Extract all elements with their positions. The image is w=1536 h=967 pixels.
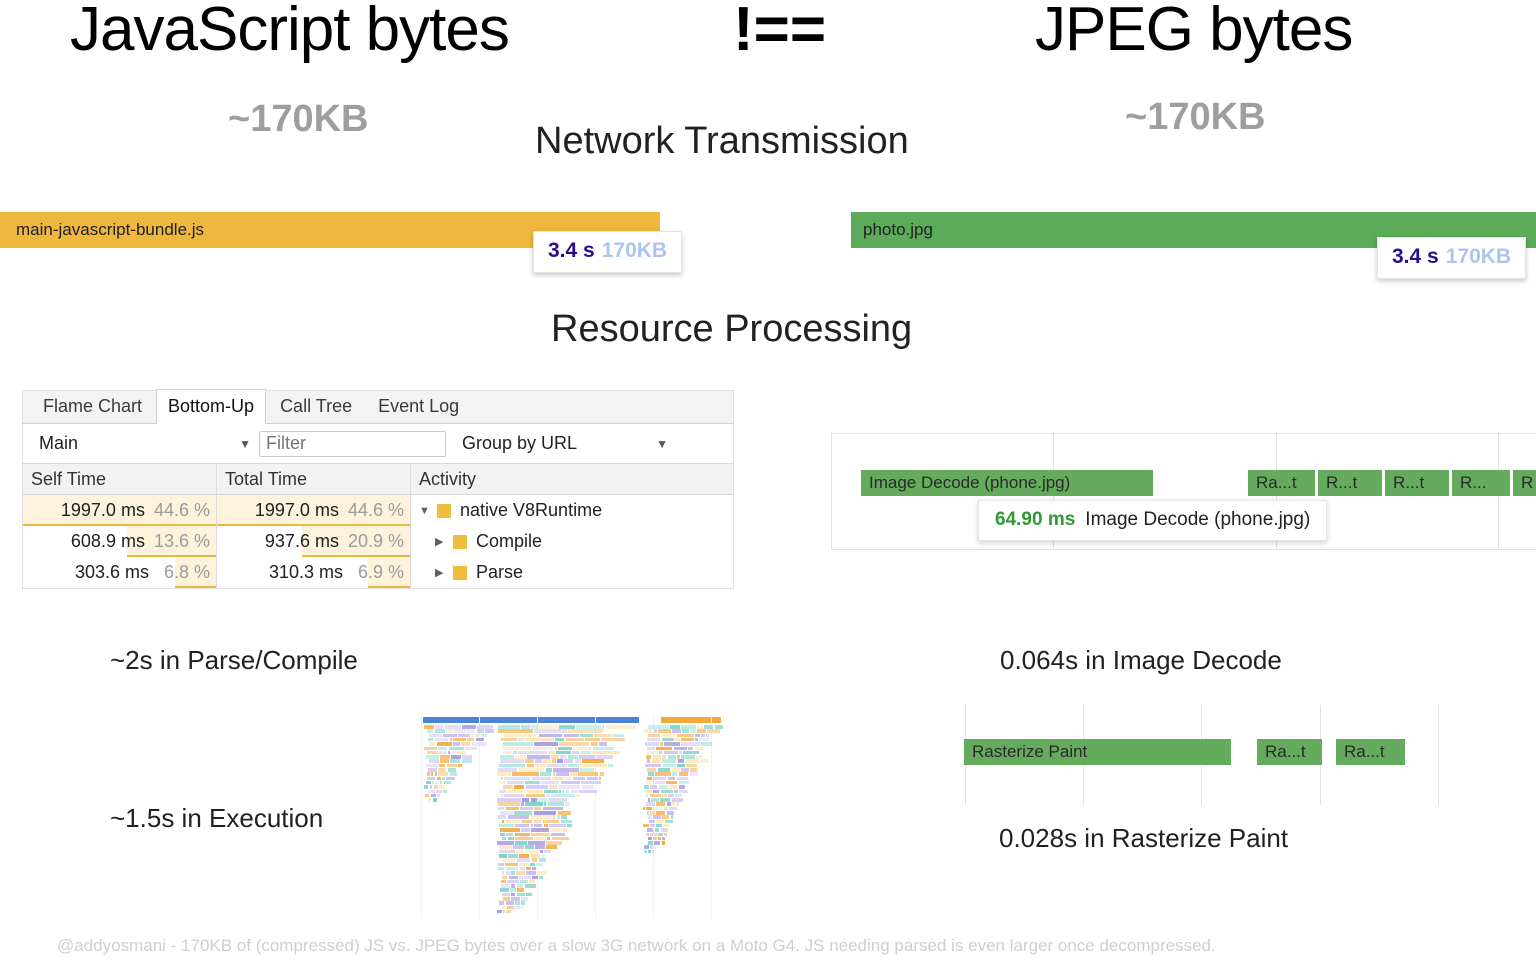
thumbnail-block <box>655 772 671 776</box>
thumbnail-block <box>527 764 534 768</box>
column-header-total-time[interactable]: Total Time <box>217 464 411 495</box>
thumbnail-block <box>704 725 713 729</box>
thumbnail-block <box>520 867 526 871</box>
chevron-right-icon[interactable]: ▶ <box>435 535 449 548</box>
thumbnail-block <box>559 725 575 729</box>
thumbnail-block <box>428 768 437 772</box>
thumbnail-block <box>450 759 460 763</box>
grid-rule <box>831 433 1536 434</box>
thumbnail-block <box>576 725 601 729</box>
thumbnail-block <box>570 772 577 776</box>
thumbnail-block <box>438 747 447 751</box>
thumbnail-block <box>520 807 533 811</box>
thumbnail-block <box>440 755 450 759</box>
thumbnail-block <box>695 747 704 751</box>
thumbnail-block <box>515 841 527 845</box>
filter-input[interactable] <box>259 431 446 457</box>
thumbnail-block <box>504 794 524 798</box>
thumbnail-block <box>521 828 529 832</box>
thumbnail-block <box>430 785 433 789</box>
thumbnail-block <box>432 781 435 785</box>
network-tooltip-javascript-time: 3.4 s <box>548 239 595 262</box>
thumbnail-block <box>644 729 653 733</box>
thumbnail-block <box>672 798 683 802</box>
thumbnail-block <box>517 884 524 888</box>
thumbnail-block <box>506 871 510 875</box>
thumbnail-block <box>499 901 505 905</box>
flame-block[interactable]: R <box>1513 470 1536 496</box>
thumbnail-block <box>552 777 563 781</box>
thumbnail-block <box>435 772 437 776</box>
thumbnail-block <box>450 772 458 776</box>
thumbnail-block <box>502 876 508 880</box>
thumbnail-block <box>553 768 579 772</box>
thumbnail-block <box>501 884 510 888</box>
total-time-value: 1997.0 ms <box>255 500 339 521</box>
thumbnail-block <box>659 751 662 755</box>
thumbnail-block <box>606 725 637 729</box>
thumbnail-block <box>662 837 665 841</box>
thumbnail-block <box>540 772 551 776</box>
category-swatch-icon <box>453 566 467 580</box>
thumbnail-block <box>439 764 445 768</box>
thumbnail-block <box>539 876 543 880</box>
thumbnail-block <box>450 738 452 742</box>
rasterize-paint-flame-strip: Rasterize PaintRa...tRa...t <box>951 705 1536 805</box>
thumbnail-block <box>516 871 525 875</box>
self-time-percent: 13.6 % <box>154 531 210 552</box>
thumbnail-block <box>500 811 513 815</box>
thumbnail-block <box>520 880 528 884</box>
flame-block[interactable]: Image Decode (phone.jpg) <box>861 470 1153 496</box>
devtools-table-header: Self Time Total Time Activity <box>22 464 734 495</box>
thumbnail-block <box>679 790 688 794</box>
thumbnail-block <box>531 725 538 729</box>
thumbnail-block <box>647 738 661 742</box>
thumbnail-block <box>485 729 494 733</box>
activity-cell: ▶Parse <box>411 557 733 588</box>
thumbnail-block <box>664 751 678 755</box>
thumbnail-block <box>507 880 519 884</box>
thumbnail-block <box>690 772 699 776</box>
thumbnail-block <box>429 759 439 763</box>
thumbnail-block <box>525 802 543 806</box>
thumbnail-block <box>661 717 721 723</box>
thumbnail-block <box>525 845 534 849</box>
thumbnail-block <box>435 725 443 729</box>
thumbnail-block <box>535 845 545 849</box>
thumbnail-block <box>546 820 559 824</box>
thumbnail-block <box>506 820 511 824</box>
thumbnail-block <box>518 768 545 772</box>
note-execution: ~1.5s in Execution <box>110 803 323 834</box>
footer-caption: @addyosmani - 170KB of (compressed) JS v… <box>57 936 1216 956</box>
thumbnail-block <box>519 876 522 880</box>
thumbnail-block <box>444 751 447 755</box>
thumbnail-block <box>424 785 429 789</box>
total-time-value: 937.6 ms <box>265 531 339 552</box>
thumbnail-block <box>661 790 673 794</box>
thumbnail-block <box>498 729 533 733</box>
thumbnail-block <box>663 824 670 828</box>
thumbnail-block <box>656 802 665 806</box>
headline-right-term: JPEG bytes <box>1035 0 1352 65</box>
thumbnail-block <box>423 717 639 723</box>
thumbnail-block <box>647 811 649 815</box>
self-time-value: 1997.0 ms <box>61 500 145 521</box>
thumbnail-block <box>429 734 442 738</box>
thumbnail-block <box>437 742 453 746</box>
thumbnail-block <box>697 729 706 733</box>
thumbnail-block <box>553 772 556 776</box>
thumbnail-block <box>650 811 655 815</box>
thumbnail-block <box>551 755 559 759</box>
thumbnail-block <box>508 854 517 858</box>
thumbnail-block <box>461 742 470 746</box>
thumbnail-block <box>515 837 533 841</box>
thumbnail-block <box>668 777 676 781</box>
thumbnail-block <box>498 807 504 811</box>
network-tooltip-jpeg-time: 3.4 s <box>1392 245 1439 268</box>
thumbnail-block <box>647 759 651 763</box>
thumbnail-block <box>498 768 517 772</box>
thumbnail-block <box>508 837 514 841</box>
thumbnail-block <box>548 751 555 755</box>
thumbnail-block <box>526 871 535 875</box>
total-time-percent: 20.9 % <box>348 531 404 552</box>
self-time-cell: 1997.0 ms44.6 % <box>23 495 217 526</box>
thumbnail-block <box>499 850 515 854</box>
thumbnail-block <box>504 777 530 781</box>
total-time-percent: 44.6 % <box>348 500 404 521</box>
thumbnail-block <box>510 888 516 892</box>
thumbnail-block <box>587 777 598 781</box>
flame-block[interactable]: Ra...t <box>1248 470 1315 496</box>
thumbnail-block <box>579 790 597 794</box>
thumbnail-block <box>654 845 657 849</box>
thumbnail-block <box>662 759 677 763</box>
activity-cell: ▼native V8Runtime <box>411 495 733 526</box>
thumbnail-block <box>677 734 694 738</box>
thumbnail-block <box>661 734 676 738</box>
thumbnail-block <box>559 742 589 746</box>
thumbnail-block <box>433 798 437 802</box>
note-rasterize-paint: 0.028s in Rasterize Paint <box>999 823 1288 854</box>
thumbnail-block <box>503 785 513 789</box>
thumbnail-block <box>647 747 655 751</box>
thumbnail-block <box>502 837 507 841</box>
devtools-toolbar: Main ▼ Group by URL ▼ <box>22 424 734 464</box>
flame-block[interactable]: R... <box>1452 470 1510 496</box>
thumbnail-block <box>645 742 659 746</box>
thumbnail-block <box>521 901 525 905</box>
thumbnail-block <box>650 824 655 828</box>
thumbnail-block <box>646 781 654 785</box>
tab-call-tree[interactable]: Call Tree <box>268 389 364 423</box>
thumbnail-block <box>424 725 434 729</box>
headline-operator: !== <box>733 0 826 65</box>
thumbnail-block <box>426 755 440 759</box>
thumbnail-block <box>582 759 604 763</box>
thumbnail-block <box>451 755 461 759</box>
thumbnail-block <box>541 781 559 785</box>
thumbnail-block <box>653 755 661 759</box>
thumbnail-block <box>535 764 546 768</box>
thumbnail-block <box>525 759 534 763</box>
thumbnail-block <box>440 759 449 763</box>
thumbnail-block <box>465 747 477 751</box>
thumbnail-block <box>505 863 518 867</box>
thumbnail-block <box>546 841 562 845</box>
thumbnail-block <box>526 893 532 897</box>
thumbnail-block <box>681 738 694 742</box>
thumbnail-block <box>536 863 543 867</box>
activity-cell: ▶Compile <box>411 526 733 557</box>
thumbnail-gridline <box>711 716 712 919</box>
thumbnail-block <box>699 738 709 742</box>
thumbnail-block <box>568 729 603 733</box>
self-time-cell: 303.6 ms6.8 % <box>23 557 217 588</box>
thumbnail-block <box>652 759 661 763</box>
thumbnail-block <box>524 876 531 880</box>
self-time-value: 608.9 ms <box>71 531 145 552</box>
thumbnail-block <box>499 781 507 785</box>
thumbnail-block <box>453 742 460 746</box>
activity-label: native V8Runtime <box>460 500 602 521</box>
thumbnail-block <box>534 820 542 824</box>
thumbnail-block <box>580 764 607 768</box>
column-header-self-time[interactable]: Self Time <box>23 464 217 495</box>
thumbnail-block <box>514 785 525 789</box>
thumbnail-block <box>539 725 558 729</box>
thumbnail-block <box>655 781 665 785</box>
network-bar-jpeg-label: photo.jpg <box>863 220 933 240</box>
thumbnail-block <box>426 781 430 785</box>
thumbnail-block <box>546 794 550 798</box>
column-header-activity[interactable]: Activity <box>411 464 733 495</box>
thumbnail-block <box>511 897 519 901</box>
thumbnail-block <box>565 777 572 781</box>
thumbnail-block <box>448 751 451 755</box>
flame-block[interactable]: R...t <box>1385 470 1449 496</box>
thumbnail-block <box>556 751 571 755</box>
network-bar-javascript-label: main-javascript-bundle.js <box>16 220 204 240</box>
thumbnail-block <box>431 790 434 794</box>
thumbnail-block <box>447 764 457 768</box>
thumbnail-block <box>677 777 689 781</box>
thumbnail-block <box>503 751 511 755</box>
thumbnail-block <box>435 738 449 742</box>
thumbnail-block <box>517 858 531 862</box>
tab-bottom-up[interactable]: Bottom-Up <box>156 389 266 424</box>
thumbnail-block <box>519 863 529 867</box>
headline: JavaScript bytes !== JPEG bytes <box>0 0 1536 74</box>
thumbnail-block <box>648 798 650 802</box>
thumbnail-block <box>431 794 436 798</box>
thumbnail-block <box>499 824 514 828</box>
thumbnail-block <box>707 729 720 733</box>
thumbnail-block <box>533 747 554 751</box>
thumbnail-block <box>650 845 652 849</box>
thumbnail-block <box>477 729 484 733</box>
thumbnail-block <box>651 798 659 802</box>
thumbnail-block <box>589 747 592 751</box>
thumbnail-block <box>428 790 430 794</box>
thumbnail-block <box>503 910 505 914</box>
thumbnail-block <box>498 867 504 871</box>
thumbnail-block <box>701 734 705 738</box>
thumbnail-block <box>429 742 436 746</box>
thumbnail-block <box>645 764 661 768</box>
thumbnail-block <box>552 759 556 763</box>
flame-block[interactable]: Rasterize Paint <box>964 739 1231 765</box>
thumbnail-block <box>508 815 530 819</box>
thumbnail-block <box>596 755 613 759</box>
thumbnail-block <box>582 785 595 789</box>
thumbnail-block <box>669 785 678 789</box>
thumbnail-block <box>662 755 666 759</box>
thumbnail-block <box>526 794 546 798</box>
thumbnail-block <box>643 807 645 811</box>
thumbnail-block <box>549 785 558 789</box>
flame-block[interactable]: Ra...t <box>1257 739 1322 765</box>
thumbnail-block <box>696 755 702 759</box>
thumbnail-block <box>645 790 652 794</box>
thumbnail-block <box>435 729 445 733</box>
thumbnail-block <box>659 785 668 789</box>
thumbnail-block <box>646 833 649 837</box>
thumbnail-block <box>454 729 466 733</box>
thumbnail-block <box>530 815 551 819</box>
thumbnail-block <box>551 833 565 837</box>
self-time-percent: 6.8 % <box>158 562 210 583</box>
flame-block[interactable]: Ra...t <box>1336 739 1405 765</box>
thumbnail-block <box>437 794 440 798</box>
group-by-select[interactable]: Group by URL ▼ <box>452 430 674 458</box>
category-swatch-icon <box>437 504 451 518</box>
thumbnail-block <box>472 742 487 746</box>
thumbnail-block <box>543 807 564 811</box>
thumbnail-block <box>556 772 569 776</box>
thumbnail-block <box>686 764 697 768</box>
thumbnail-block <box>555 747 558 751</box>
thumbnail-block <box>643 824 649 828</box>
thumbnail-block <box>663 764 676 768</box>
thumbnail-block <box>519 854 530 858</box>
thumbnail-block <box>500 755 515 759</box>
thumbnail-block <box>498 863 505 867</box>
thumbnail-block <box>438 772 448 776</box>
activity-label: Parse <box>476 562 523 583</box>
thumbnail-block <box>537 871 547 875</box>
chevron-down-icon[interactable]: ▼ <box>419 505 433 517</box>
thumbnail-block <box>530 863 535 867</box>
table-row[interactable]: 1997.0 ms44.6 %1997.0 ms44.6 %▼native V8… <box>23 495 733 526</box>
thumbnail-block <box>502 871 504 875</box>
thumbnail-block <box>502 820 504 824</box>
thumbnail-block <box>499 790 505 794</box>
thumbnail-block <box>501 777 503 781</box>
thumbnail-block <box>443 734 457 738</box>
thumbnail-block <box>647 751 658 755</box>
thumbnail-block <box>652 850 654 854</box>
thumbnail-block <box>544 802 546 806</box>
thumbnail-block <box>531 824 533 828</box>
thumbnail-block <box>516 850 523 854</box>
thumbnail-block <box>543 759 551 763</box>
thumbnail-block <box>435 781 439 785</box>
thumbnail-block <box>498 725 521 729</box>
thumbnail-block <box>549 824 566 828</box>
thumbnail-block <box>506 867 519 871</box>
thumbnail-block <box>526 867 530 871</box>
thumbnail-block <box>449 747 465 751</box>
thumbnail-block <box>539 734 563 738</box>
table-row[interactable]: 303.6 ms6.8 %310.3 ms6.9 %▶Parse <box>23 557 733 588</box>
thumbnail-block <box>462 725 476 729</box>
thumbnail-block <box>428 798 432 802</box>
thumbnail-block <box>646 807 652 811</box>
thumbnail-block <box>452 751 466 755</box>
thumbnail-block <box>467 729 475 733</box>
thumbnail-block <box>434 785 439 789</box>
thumbnail-block <box>555 738 564 742</box>
thumbnail-block <box>532 777 552 781</box>
thumbnail-block <box>644 845 649 849</box>
thumbnail-block <box>506 901 514 905</box>
thumbnail-block <box>547 837 550 841</box>
thumbnail-block <box>566 738 585 742</box>
chevron-right-icon[interactable]: ▶ <box>435 566 449 579</box>
thumbnail-block <box>551 794 575 798</box>
thumbnail-block <box>527 755 550 759</box>
thumbnail-block <box>500 888 509 892</box>
thumbnail-block <box>561 820 573 824</box>
thumbnail-block <box>427 729 434 733</box>
thumbnail-block <box>701 742 712 746</box>
thumbnail-block <box>613 734 624 738</box>
thumbnail-block <box>506 833 513 837</box>
thumbnail-block <box>500 828 520 832</box>
thumbnail-block <box>437 777 442 781</box>
thumbnail-block <box>690 768 697 772</box>
thread-select[interactable]: Main ▼ <box>29 430 257 458</box>
thumbnail-block <box>688 747 693 751</box>
table-row[interactable]: 608.9 ms13.6 %937.6 ms20.9 %▶Compile <box>23 526 733 557</box>
thumbnail-block <box>436 790 443 794</box>
tab-event-log[interactable]: Event Log <box>366 389 471 423</box>
thumbnail-block <box>648 815 651 819</box>
image-decode-tooltip-duration: 64.90 ms <box>995 509 1075 530</box>
thumbnail-block <box>558 747 571 751</box>
flame-block[interactable]: R...t <box>1318 470 1382 496</box>
thumbnail-block <box>427 777 435 781</box>
thumbnail-block <box>672 772 678 776</box>
thumbnail-block <box>532 858 538 862</box>
thumbnail-block <box>498 815 506 819</box>
thumbnail-block <box>664 742 680 746</box>
thumbnail-block <box>662 815 670 819</box>
thumbnail-block <box>667 802 671 806</box>
thumbnail-block <box>601 738 625 742</box>
gridline <box>831 432 832 550</box>
thumbnail-block <box>507 781 523 785</box>
network-tooltip-javascript: 3.4 s170KB <box>533 231 682 273</box>
tab-flame-chart[interactable]: Flame Chart <box>31 389 154 423</box>
thumbnail-block <box>462 755 473 759</box>
thumbnail-block <box>531 833 550 837</box>
thumbnail-block <box>685 759 699 763</box>
